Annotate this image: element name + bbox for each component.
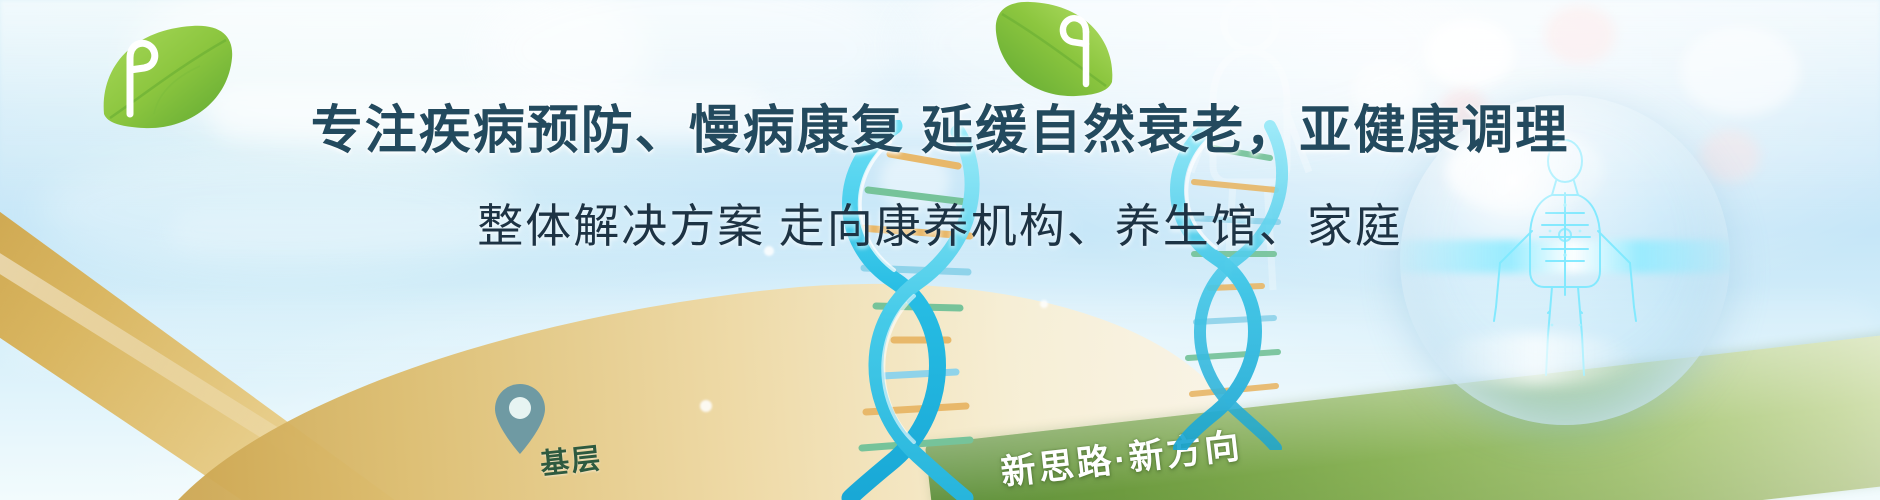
dna-helix-icon [790,120,1020,500]
sparkle [700,400,712,412]
sparkle [1040,300,1048,308]
health-promo-banner: 新思路·新方向 基层 [0,0,1880,500]
banner-headline: 专注疾病预防、慢病康复 延缓自然衰老，亚健康调理 [0,88,1880,163]
bokeh-dot [1545,6,1615,64]
map-pin-label: 基层 [538,435,604,483]
dna-helix-icon [1130,120,1320,450]
banner-subline: 整体解决方案 走向康养机构、养生馆、家庭 [0,190,1880,256]
bokeh-dot [1425,18,1515,88]
sphere-highlight [1433,333,1638,386]
